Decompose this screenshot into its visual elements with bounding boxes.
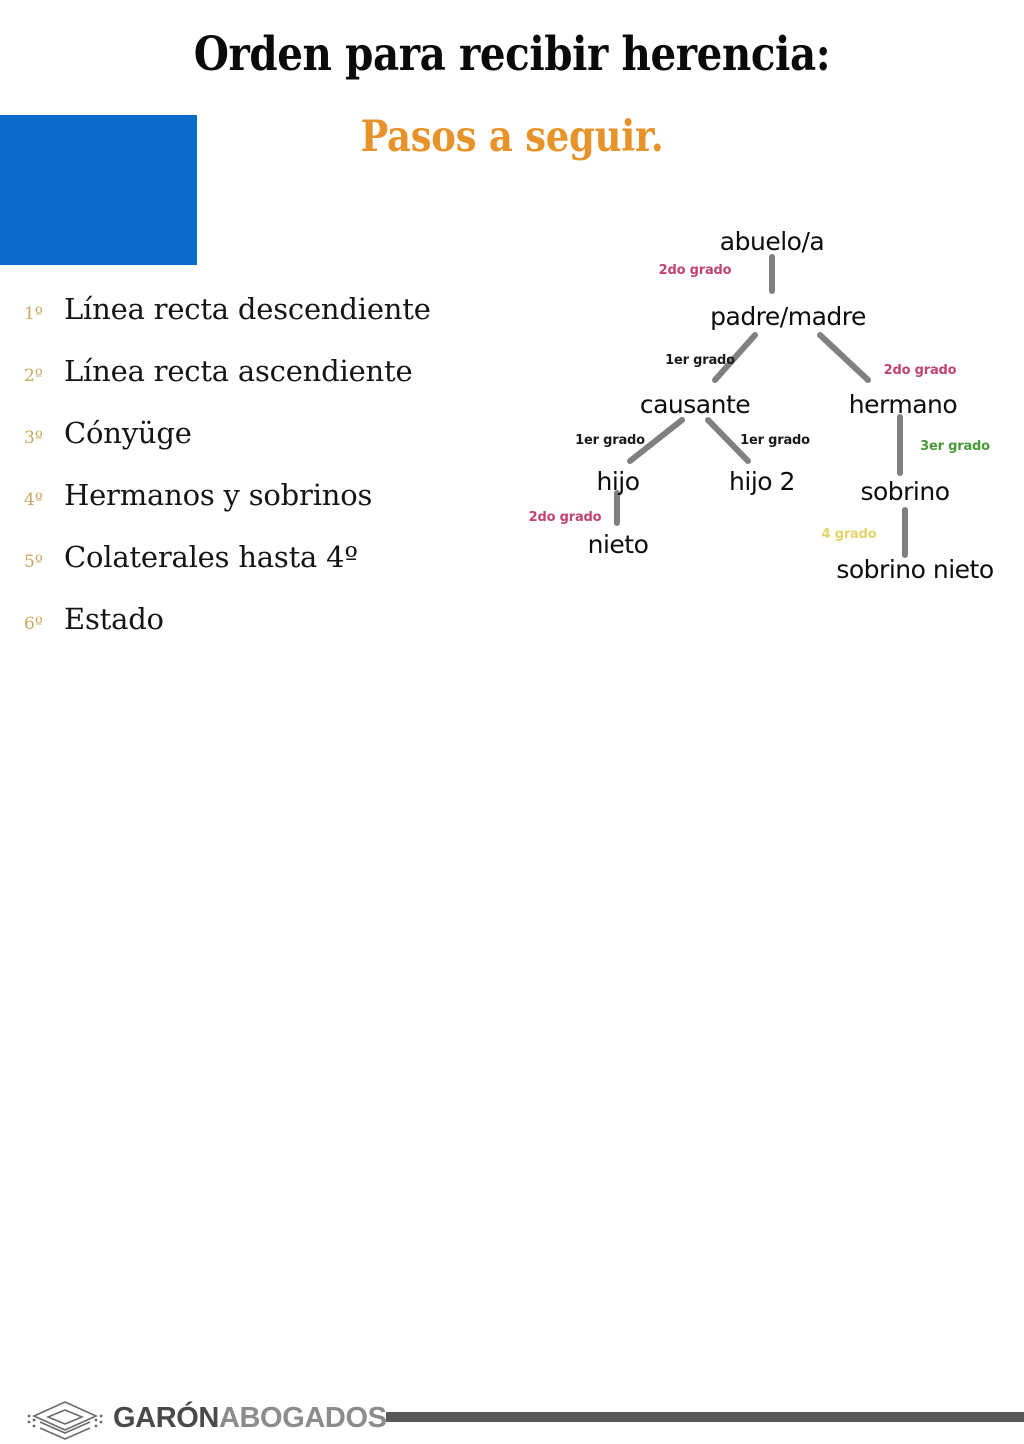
blue-accent-block xyxy=(0,115,197,265)
tree-grade-hijo-nieto: 2do grado xyxy=(529,510,602,525)
list-item-label: Hermanos y sobrinos xyxy=(64,478,372,512)
tree-node-sobrino-nieto: sobrino nieto xyxy=(836,555,993,584)
brand-wordmark: GARÓNABOGADOS xyxy=(113,1402,387,1435)
family-tree-diagram: abuelo/a padre/madre causante hermano hi… xyxy=(500,205,1024,605)
list-item-label: Línea recta descendiente xyxy=(64,292,431,326)
tree-node-sobrino: sobrino xyxy=(860,477,949,506)
list-item: 2º Línea recta ascendiente xyxy=(18,354,518,396)
page-title: Orden para recibir herencia: xyxy=(72,30,953,79)
list-item-label: Estado xyxy=(64,602,164,636)
inheritance-order-list: 1º Línea recta descendiente 2º Línea rec… xyxy=(18,292,518,664)
tree-grade-sobrino-sobrinonieto: 4 grado xyxy=(822,527,877,542)
list-item-number: 1º xyxy=(18,304,64,324)
list-item: 4º Hermanos y sobrinos xyxy=(18,478,518,520)
list-item-label: Línea recta ascendiente xyxy=(64,354,412,388)
tree-node-abuelo: abuelo/a xyxy=(720,227,824,256)
tree-node-causante: causante xyxy=(640,390,750,419)
tree-grade-padre-hermano: 2do grado xyxy=(884,363,957,378)
list-item: 3º Cónyüge xyxy=(18,416,518,458)
brand-name-secondary: ABOGADOS xyxy=(219,1402,387,1434)
tree-node-hermano: hermano xyxy=(849,390,957,419)
list-item: 1º Línea recta descendiente xyxy=(18,292,518,334)
footer: GARÓNABOGADOS xyxy=(0,690,1024,768)
list-item-number: 6º xyxy=(18,614,64,634)
tree-grade-causante-hijo2: 1er grado xyxy=(740,433,810,448)
list-item-label: Cónyüge xyxy=(64,416,192,450)
tree-grade-causante-hijo: 1er grado xyxy=(575,433,645,448)
footer-divider-bar xyxy=(386,1412,1024,1422)
tree-grade-abuelo-padre: 2do grado xyxy=(659,263,732,278)
list-item: 6º Estado xyxy=(18,602,518,644)
tree-node-padre-madre: padre/madre xyxy=(710,302,866,331)
tree-node-hijo: hijo xyxy=(596,467,639,496)
layers-logo-icon xyxy=(26,1398,104,1444)
edge-padre-hermano xyxy=(820,335,868,380)
list-item-number: 4º xyxy=(18,490,64,510)
tree-grade-padre-causante: 1er grado xyxy=(665,353,735,368)
tree-node-nieto: nieto xyxy=(588,530,649,559)
list-item-number: 5º xyxy=(18,552,64,572)
page-subtitle: Pasos a seguir. xyxy=(72,115,953,160)
tree-node-hijo-2: hijo 2 xyxy=(729,467,795,496)
list-item: 5º Colaterales hasta 4º xyxy=(18,540,518,582)
list-item-number: 2º xyxy=(18,366,64,386)
list-item-number: 3º xyxy=(18,428,64,448)
list-item-label: Colaterales hasta 4º xyxy=(64,540,358,574)
tree-grade-hermano-sobrino: 3er grado xyxy=(920,439,990,454)
brand-name-primary: GARÓN xyxy=(113,1402,219,1434)
